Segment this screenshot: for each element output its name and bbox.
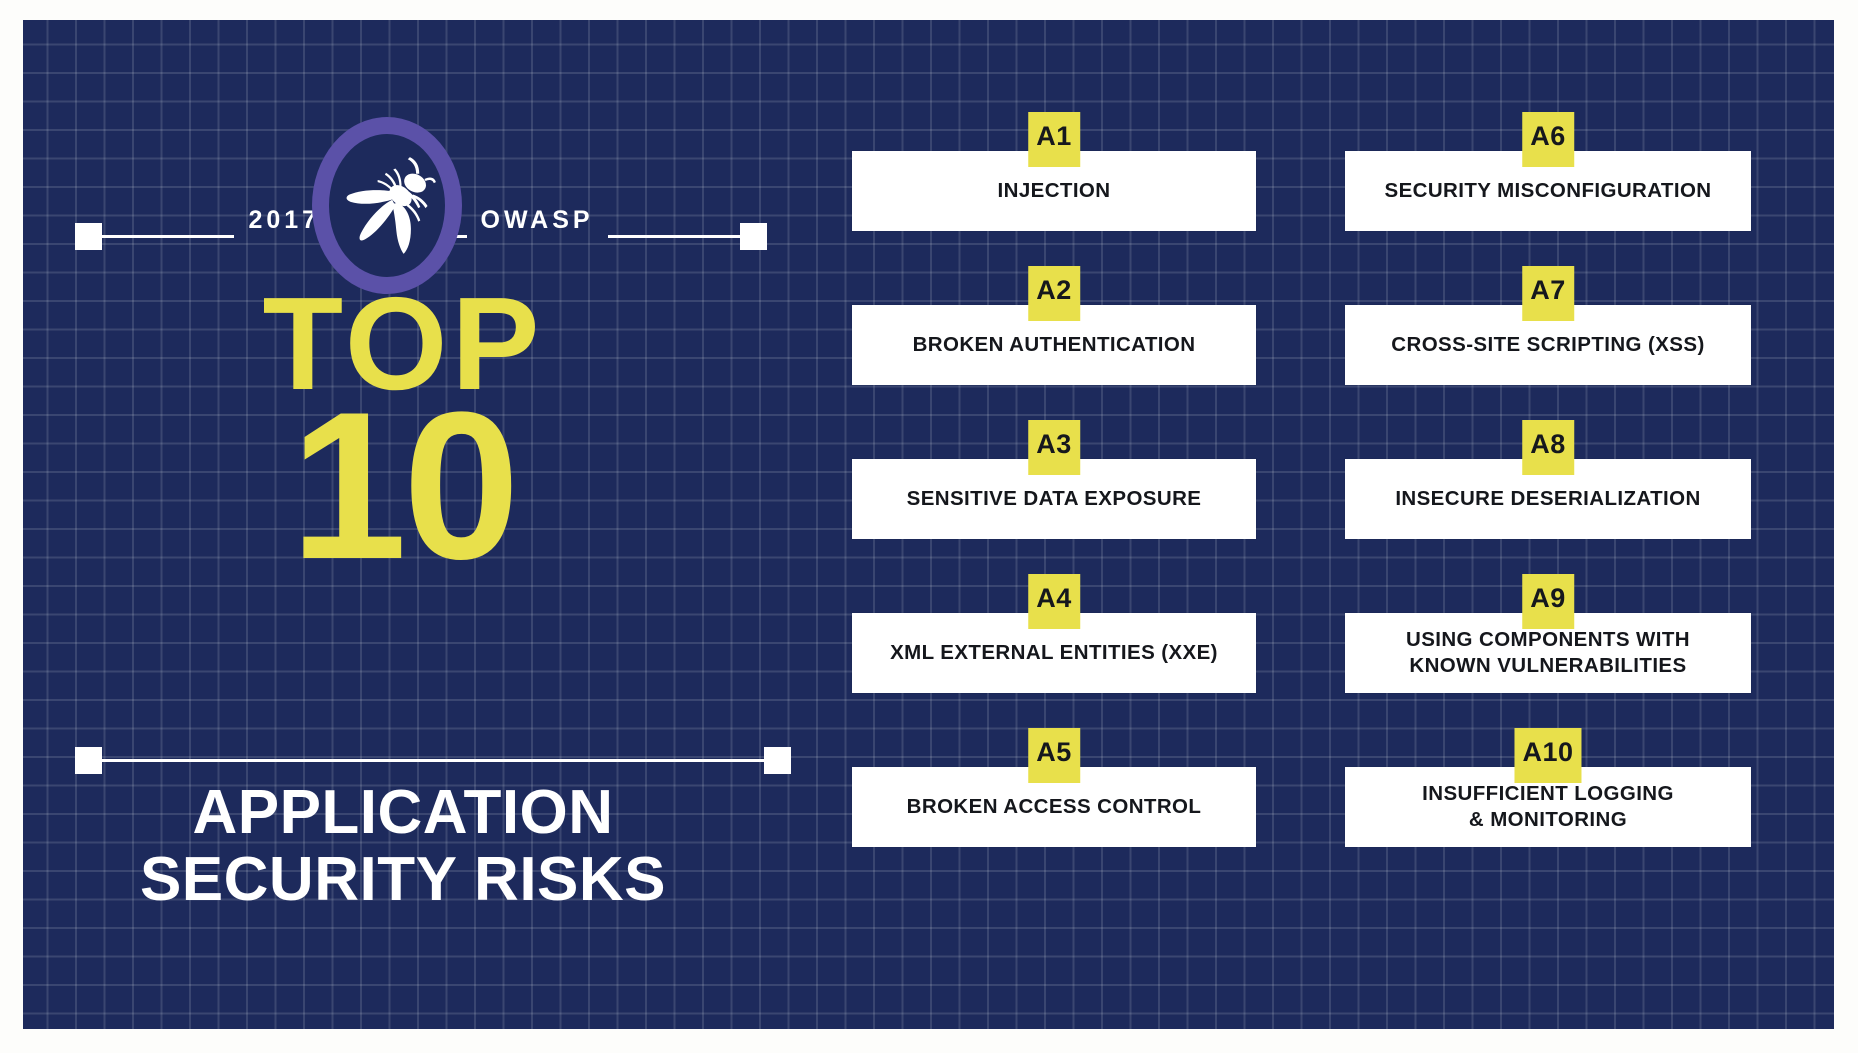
risk-rank-badge: A10	[1514, 728, 1581, 783]
risk-name: SECURITY MISCONFIGURATION	[1377, 178, 1720, 204]
owasp-logo-badge	[312, 117, 462, 294]
bottom-divider-rule	[75, 747, 791, 774]
risk-rank-badge: A7	[1522, 266, 1574, 321]
risk-rank-badge: A4	[1028, 574, 1080, 629]
risk-name-line-1: XML EXTERNAL ENTITIES (XXE)	[890, 640, 1218, 666]
rule-line	[102, 759, 764, 762]
risk-item-a8[interactable]: INSECURE DESERIALIZATIONA8	[1345, 439, 1751, 519]
risk-name: CROSS-SITE SCRIPTING (XSS)	[1383, 332, 1712, 358]
rule-square-right	[764, 747, 791, 774]
rule-line-right	[608, 235, 740, 238]
risk-column-right: SECURITY MISCONFIGURATIONA6CROSS-SITE SC…	[1345, 20, 1751, 1029]
title-panel: 2017 OWASP	[23, 20, 783, 1029]
risk-name: XML EXTERNAL ENTITIES (XXE)	[882, 640, 1226, 666]
risk-name: SENSITIVE DATA EXPOSURE	[899, 486, 1210, 512]
risk-item-a3[interactable]: SENSITIVE DATA EXPOSUREA3	[852, 439, 1256, 519]
rule-square-left	[75, 747, 102, 774]
risk-name-line-1: CROSS-SITE SCRIPTING (XSS)	[1391, 332, 1704, 358]
risk-name: INJECTION	[990, 178, 1119, 204]
subtitle-line-2: SECURITY RISKS	[23, 847, 783, 914]
risk-item-a1[interactable]: INJECTIONA1	[852, 131, 1256, 211]
risk-name: BROKEN ACCESS CONTROL	[899, 794, 1210, 820]
org-label: OWASP	[467, 206, 608, 235]
headline-number: 10	[23, 400, 783, 572]
risk-item-a6[interactable]: SECURITY MISCONFIGURATIONA6	[1345, 131, 1751, 211]
risk-name-line-2: KNOWN VULNERABILITIES	[1406, 653, 1690, 679]
risk-item-a9[interactable]: USING COMPONENTS WITHKNOWN VULNERABILITI…	[1345, 593, 1751, 673]
subtitle-line-1: APPLICATION	[23, 780, 783, 847]
risk-name-line-1: BROKEN AUTHENTICATION	[913, 332, 1196, 358]
rule-line-left	[102, 235, 234, 238]
risk-rank-badge: A2	[1028, 266, 1080, 321]
risk-rank-badge: A8	[1522, 420, 1574, 475]
risk-name: USING COMPONENTS WITHKNOWN VULNERABILITI…	[1398, 627, 1698, 678]
risk-rank-badge: A6	[1522, 112, 1574, 167]
page-subtitle: APPLICATION SECURITY RISKS	[23, 780, 783, 914]
page-title: TOP 10	[23, 290, 783, 572]
risk-rank-badge: A5	[1028, 728, 1080, 783]
risk-name-line-1: SENSITIVE DATA EXPOSURE	[907, 486, 1202, 512]
risk-item-a2[interactable]: BROKEN AUTHENTICATIONA2	[852, 285, 1256, 365]
risk-name-line-1: USING COMPONENTS WITH	[1406, 627, 1690, 653]
risk-name-line-1: BROKEN ACCESS CONTROL	[907, 794, 1202, 820]
rule-square-right	[740, 223, 767, 250]
risk-item-a5[interactable]: BROKEN ACCESS CONTROLA5	[852, 747, 1256, 827]
risk-name-line-1: SECURITY MISCONFIGURATION	[1385, 178, 1712, 204]
risk-item-a4[interactable]: XML EXTERNAL ENTITIES (XXE)A4	[852, 593, 1256, 673]
risk-name-line-1: INSUFFICIENT LOGGING	[1422, 781, 1674, 807]
risk-column-left: INJECTIONA1BROKEN AUTHENTICATIONA2SENSIT…	[852, 20, 1256, 1029]
risk-name: BROKEN AUTHENTICATION	[905, 332, 1204, 358]
risk-rank-badge: A1	[1028, 112, 1080, 167]
risk-item-a10[interactable]: INSUFFICIENT LOGGING& MONITORINGA10	[1345, 747, 1751, 827]
risk-rank-badge: A9	[1522, 574, 1574, 629]
risk-rank-badge: A3	[1028, 420, 1080, 475]
risk-name-line-2: & MONITORING	[1422, 807, 1674, 833]
risk-name-line-1: INJECTION	[998, 178, 1111, 204]
owasp-logo-inner-circle	[329, 134, 445, 277]
risk-name: INSECURE DESERIALIZATION	[1387, 486, 1708, 512]
risk-name-line-1: INSECURE DESERIALIZATION	[1395, 486, 1700, 512]
owasp-wasp-icon	[335, 154, 439, 258]
risk-name: INSUFFICIENT LOGGING& MONITORING	[1414, 781, 1682, 832]
poster-canvas: 2017 OWASP	[23, 20, 1834, 1029]
risk-item-a7[interactable]: CROSS-SITE SCRIPTING (XSS)A7	[1345, 285, 1751, 365]
rule-square-left	[75, 223, 102, 250]
